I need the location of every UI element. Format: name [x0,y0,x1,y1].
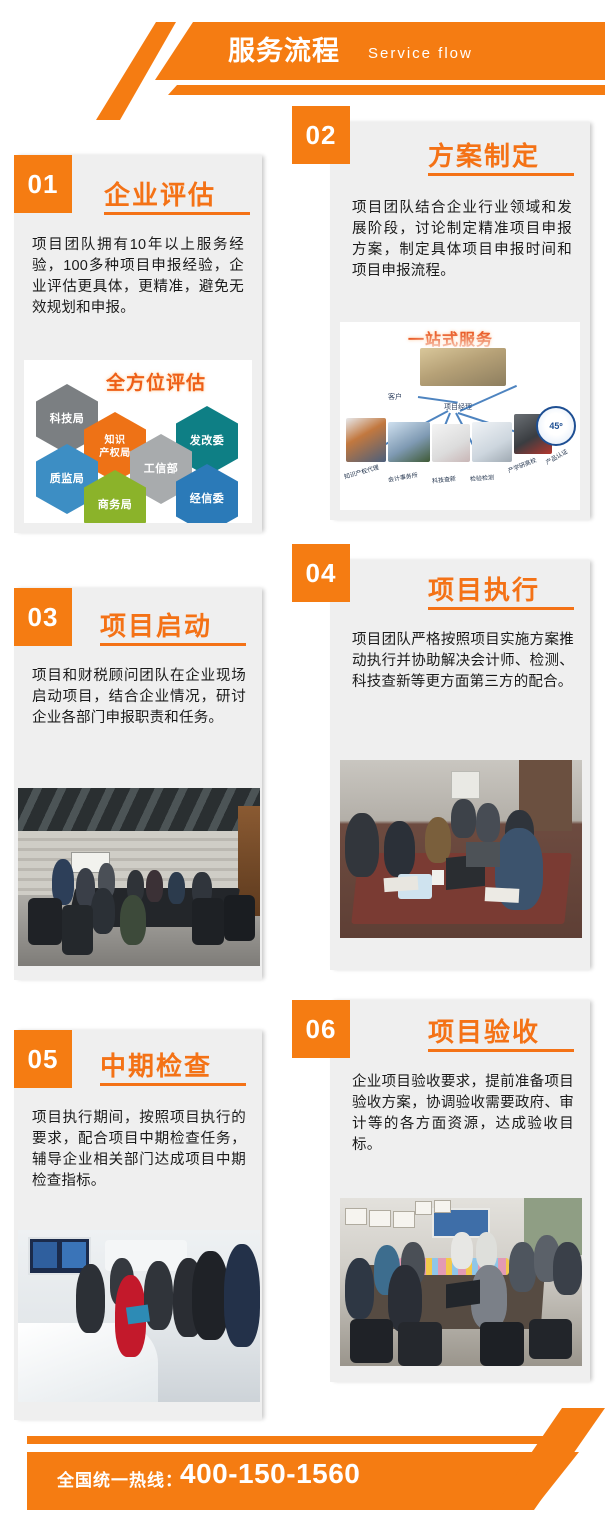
card-03-number-badge: 03 [14,588,72,646]
page-subtitle: Service flow [368,44,473,64]
card-04-number-badge: 04 [292,544,350,602]
card-05[interactable]: 中期检查 项目执行期间，按照项目执行的要求，配合项目中期检查任务，辅导企业相关部… [14,1030,262,1420]
card-02[interactable]: 方案制定 项目团队结合企业行业领域和发展阶段，讨论制定精准项目申报方案，制定具体… [330,122,590,520]
card-03-title-rule [100,643,246,646]
card-03-photo [18,788,260,966]
card-04-title: 项目执行 [428,570,540,607]
hexagon-infographic-title: 全方位评估 [106,368,206,395]
card-01-number-badge: 01 [14,155,72,213]
card-01-title-rule [104,212,250,215]
card-03[interactable]: 项目启动 项目和财税顾问团队在企业现场启动项目，结合企业情况，研讨企业各部门申报… [14,588,262,980]
card-04-title-rule [428,607,574,610]
service-thumb-tech-search [432,424,470,462]
hexagon-infographic: 全方位评估 科技局 知识 产权局 发改委 质监局 工信部 商务局 经信委 [24,360,252,523]
card-06[interactable]: 项目验收 企业项目验收要求，提前准备项目验收方案，协调验收需要政府、审计等的各方… [330,1000,590,1382]
service-thumb-ip-agency [346,418,386,462]
card-06-photo [340,1198,582,1366]
card-04-body: 项目团队严格按照项目实施方案推动执行并协助解决会计师、检测、科技查新等更方面第三… [352,630,574,693]
service-infographic-title: 一站式服务 [408,326,493,350]
service-node-customer: 客户 [388,392,402,402]
card-06-number-badge: 06 [292,1000,350,1058]
page-footer: 全国统一热线： 400-150-1560 [0,1398,605,1538]
card-03-title: 项目启动 [100,606,212,643]
page-title: 服务流程 [228,32,340,70]
service-thumb-inspection [472,422,512,462]
service-arrow-2 [460,385,517,412]
card-04-photo [340,760,582,938]
card-02-title-rule [428,173,574,176]
card-01-title: 企业评估 [104,175,216,212]
service-label-ip-agency: 知识产权代理 [343,462,380,481]
service-label-inspection: 检验检测 [470,472,495,483]
card-02-number-badge: 02 [292,106,350,164]
service-arrow-1 [418,396,458,404]
card-05-number-badge: 05 [14,1030,72,1088]
card-06-title-rule [428,1049,574,1052]
card-04[interactable]: 项目执行 项目团队严格按照项目实施方案推动执行并协助解决会计师、检测、科技查新等… [330,560,590,970]
card-03-body: 项目和财税顾问团队在企业现场启动项目，结合企业情况，研讨企业各部门申报职责和任务… [32,666,246,729]
card-01-body: 项目团队拥有10年以上服务经验，100多种项目申报经验，企业评估更具体，更精准，… [32,235,244,319]
card-06-title: 项目验收 [428,1012,540,1049]
service-label-accounting: 会计事务所 [387,470,418,484]
card-02-body: 项目团队结合企业行业领域和发展阶段，讨论制定精准项目申报方案，制定具体项目申报时… [352,198,572,282]
hotline-number[interactable]: 400-150-1560 [180,1458,360,1490]
card-06-body: 企业项目验收要求，提前准备项目验收方案，协调验收需要政府、审计等的各方面资源，达… [352,1072,574,1156]
hotline-label: 全国统一热线： [57,1466,183,1491]
header-bar-thin [168,85,605,95]
service-hub-photo [420,348,506,386]
card-02-title: 方案制定 [428,136,540,173]
card-05-photo [18,1230,260,1402]
card-05-body: 项目执行期间，按照项目执行的要求，配合项目中期检查任务，辅导企业相关部门达成项目… [32,1108,246,1192]
service-thumb-accounting [388,422,430,462]
card-05-title-rule [100,1083,246,1086]
one-stop-service-infographic: 一站式服务 客户 项目经理 45º 知识产权代理 会计事务所 科技查新 [340,322,580,510]
card-05-title: 中期检查 [100,1046,212,1083]
footer-bar-thin [27,1436,579,1444]
service-label-tech-search: 科技查新 [432,474,457,485]
service-flow-infographic-page: 服务流程 Service flow 企业评估 项目团队拥有10年以上服务经验，1… [0,0,605,1538]
service-certification-seal: 45º [536,406,576,446]
